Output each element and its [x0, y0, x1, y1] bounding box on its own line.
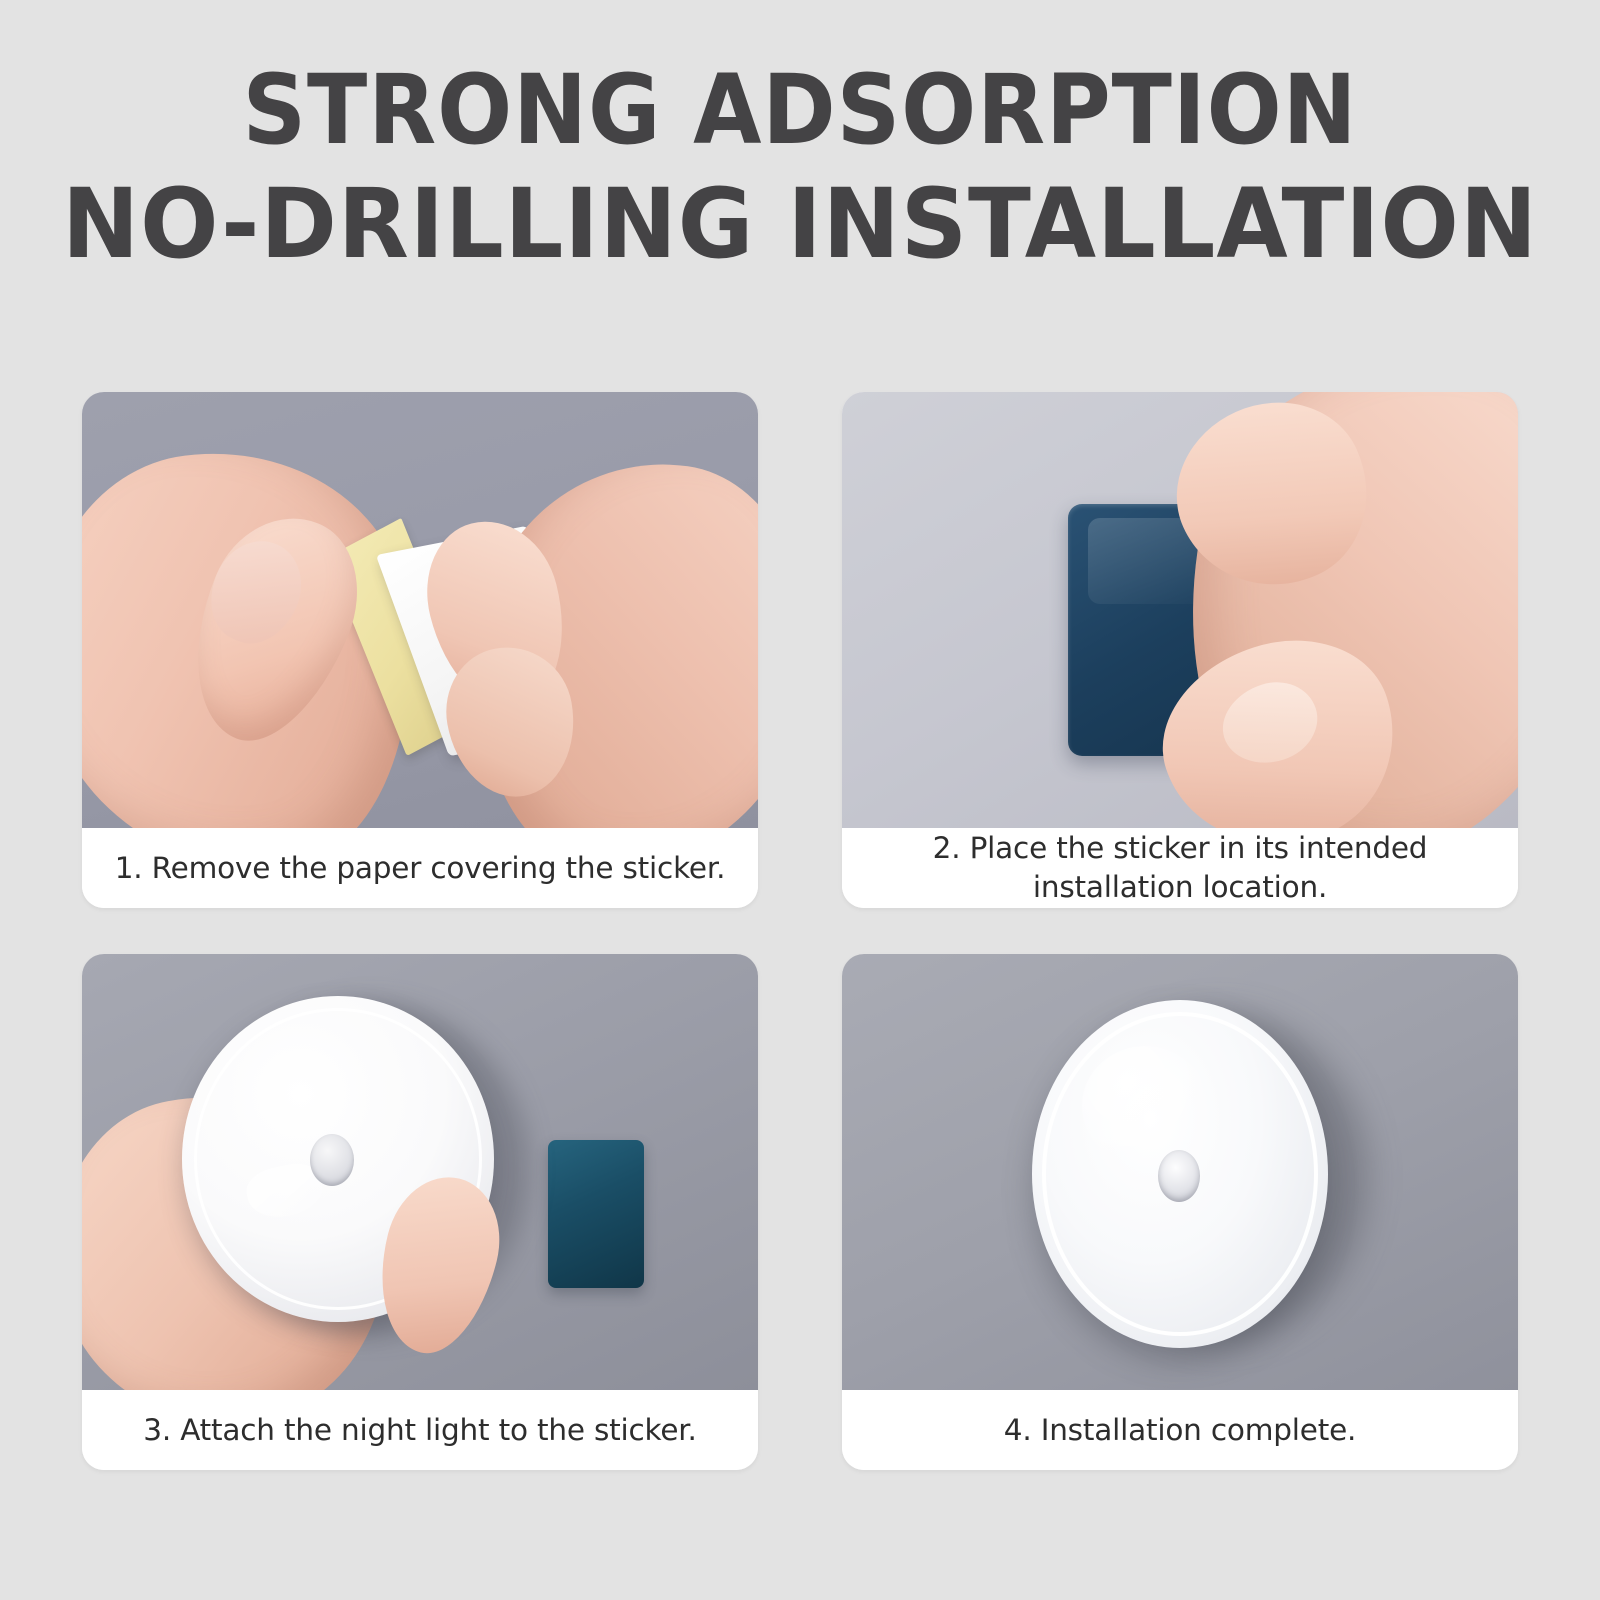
night-light-gloss [1082, 1046, 1208, 1166]
step-2-caption-bar: 2. Place the sticker in its intended ins… [842, 828, 1518, 908]
step-3-photo [82, 954, 758, 1390]
step-1-caption-bar: 1. Remove the paper covering the sticker… [82, 828, 758, 908]
step-4-photo [842, 954, 1518, 1390]
installation-steps-grid: 1. Remove the paper covering the sticker… [82, 392, 1518, 1470]
step-1-caption-text: 1. Remove the paper covering the sticker… [115, 849, 726, 888]
page-title: STRONG ADSORPTION NO-DRILLING INSTALLATI… [0, 62, 1600, 272]
page-title-line-1: STRONG ADSORPTION [64, 62, 1536, 158]
step-4-caption-text: 4. Installation complete. [1004, 1411, 1356, 1450]
step-3-caption-bar: 3. Attach the night light to the sticker… [82, 1390, 758, 1470]
motion-sensor-dome [310, 1134, 354, 1186]
step-card-1: 1. Remove the paper covering the sticker… [82, 392, 758, 908]
step-1-photo [82, 392, 758, 828]
motion-sensor-dome [1158, 1150, 1200, 1202]
step-2-caption-text: 2. Place the sticker in its intended ins… [868, 829, 1492, 907]
step-3-caption-text: 3. Attach the night light to the sticker… [143, 1411, 696, 1450]
step-4-caption-bar: 4. Installation complete. [842, 1390, 1518, 1470]
step-card-3: 3. Attach the night light to the sticker… [82, 954, 758, 1470]
step-card-2: 2. Place the sticker in its intended ins… [842, 392, 1518, 908]
page-title-line-2: NO-DRILLING INSTALLATION [32, 176, 1568, 272]
mounted-blue-sticker [548, 1140, 644, 1288]
step-2-photo [842, 392, 1518, 828]
step-card-4: 4. Installation complete. [842, 954, 1518, 1470]
